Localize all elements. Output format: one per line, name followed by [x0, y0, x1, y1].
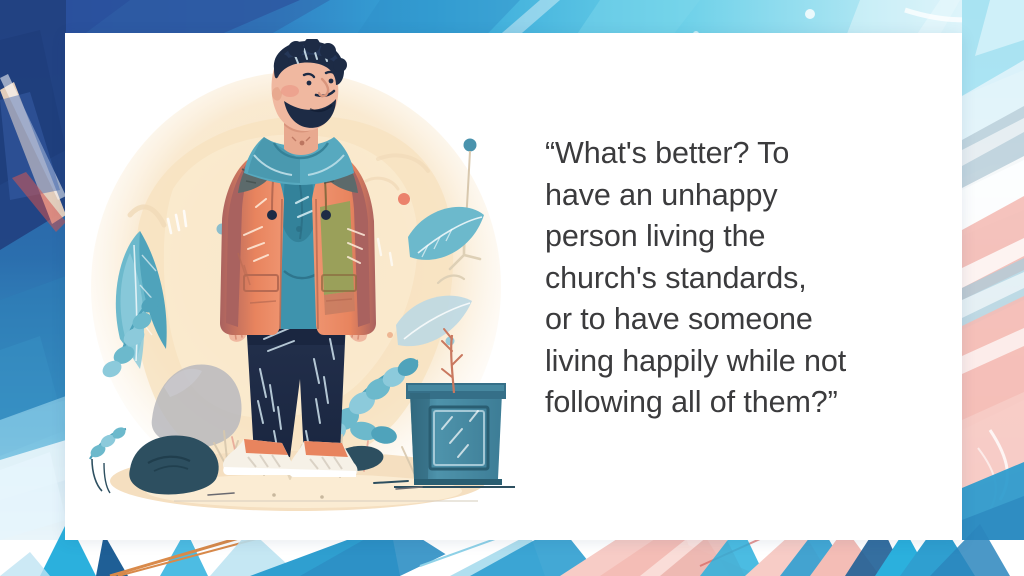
- content-card: “What's better? To have an unhappy perso…: [65, 33, 962, 540]
- illustration-artwork: [78, 39, 515, 534]
- quote-text: “What's better? To have an unhappy perso…: [545, 133, 923, 424]
- standing-man-illustration: [78, 39, 515, 534]
- quote-block: “What's better? To have an unhappy perso…: [545, 133, 923, 424]
